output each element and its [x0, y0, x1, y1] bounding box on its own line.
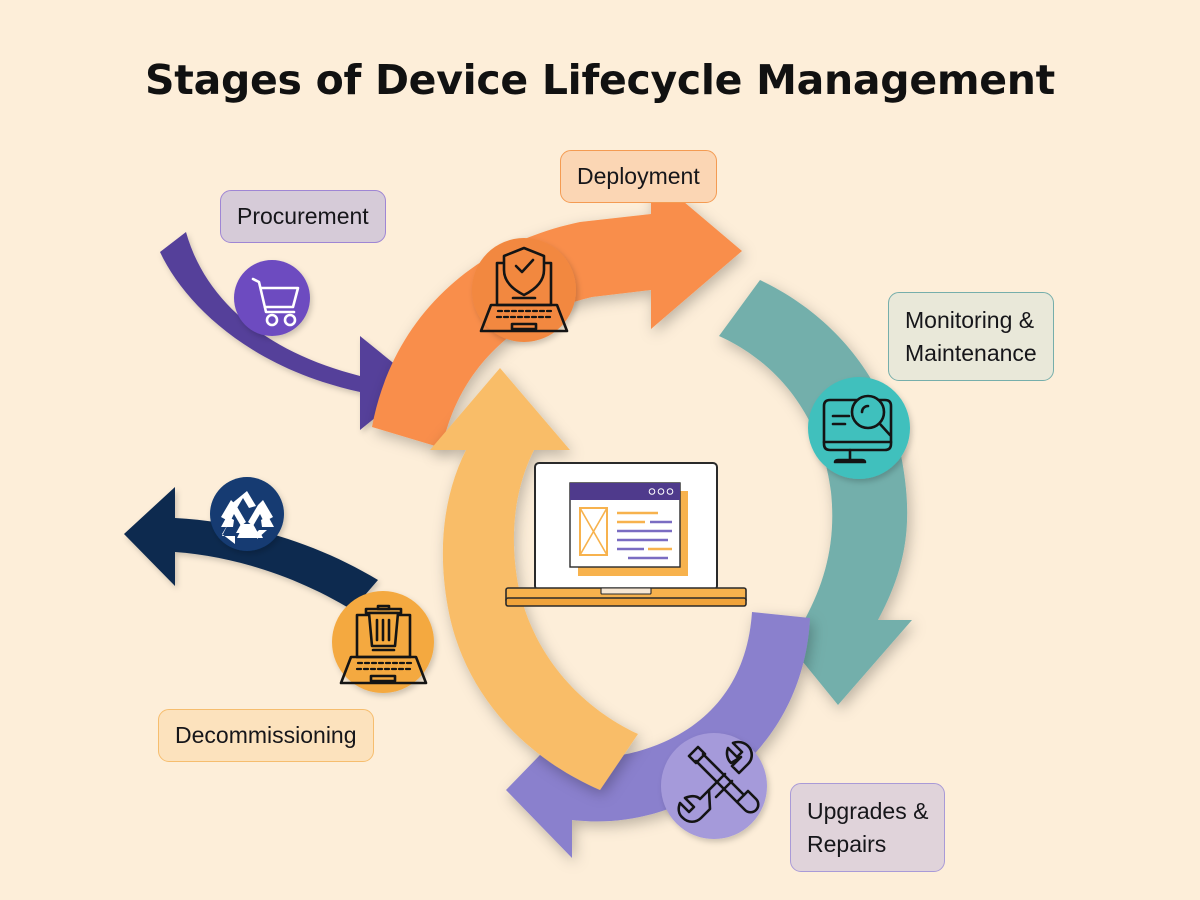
stage-label-procurement[interactable]: Procurement	[220, 190, 386, 243]
icon-circle-procurement[interactable]	[234, 260, 310, 336]
stage-label-upgrades-repairs[interactable]: Upgrades & Repairs	[790, 783, 945, 872]
icon-circle-deployment[interactable]	[472, 238, 576, 342]
icon-circle-decommissioning[interactable]	[332, 591, 434, 693]
stage-label-decommissioning[interactable]: Decommissioning	[158, 709, 374, 762]
icon-circle-upgrades[interactable]	[661, 733, 767, 839]
icon-circle-monitoring[interactable]	[808, 377, 910, 479]
diagram-canvas	[0, 0, 1200, 900]
page-title: Stages of Device Lifecycle Management	[0, 56, 1200, 104]
icon-circle-recycling[interactable]	[210, 477, 284, 551]
center-laptop-illustration	[506, 463, 746, 606]
stage-label-deployment[interactable]: Deployment	[560, 150, 717, 203]
stage-label-monitoring-maintenance[interactable]: Monitoring & Maintenance	[888, 292, 1054, 381]
